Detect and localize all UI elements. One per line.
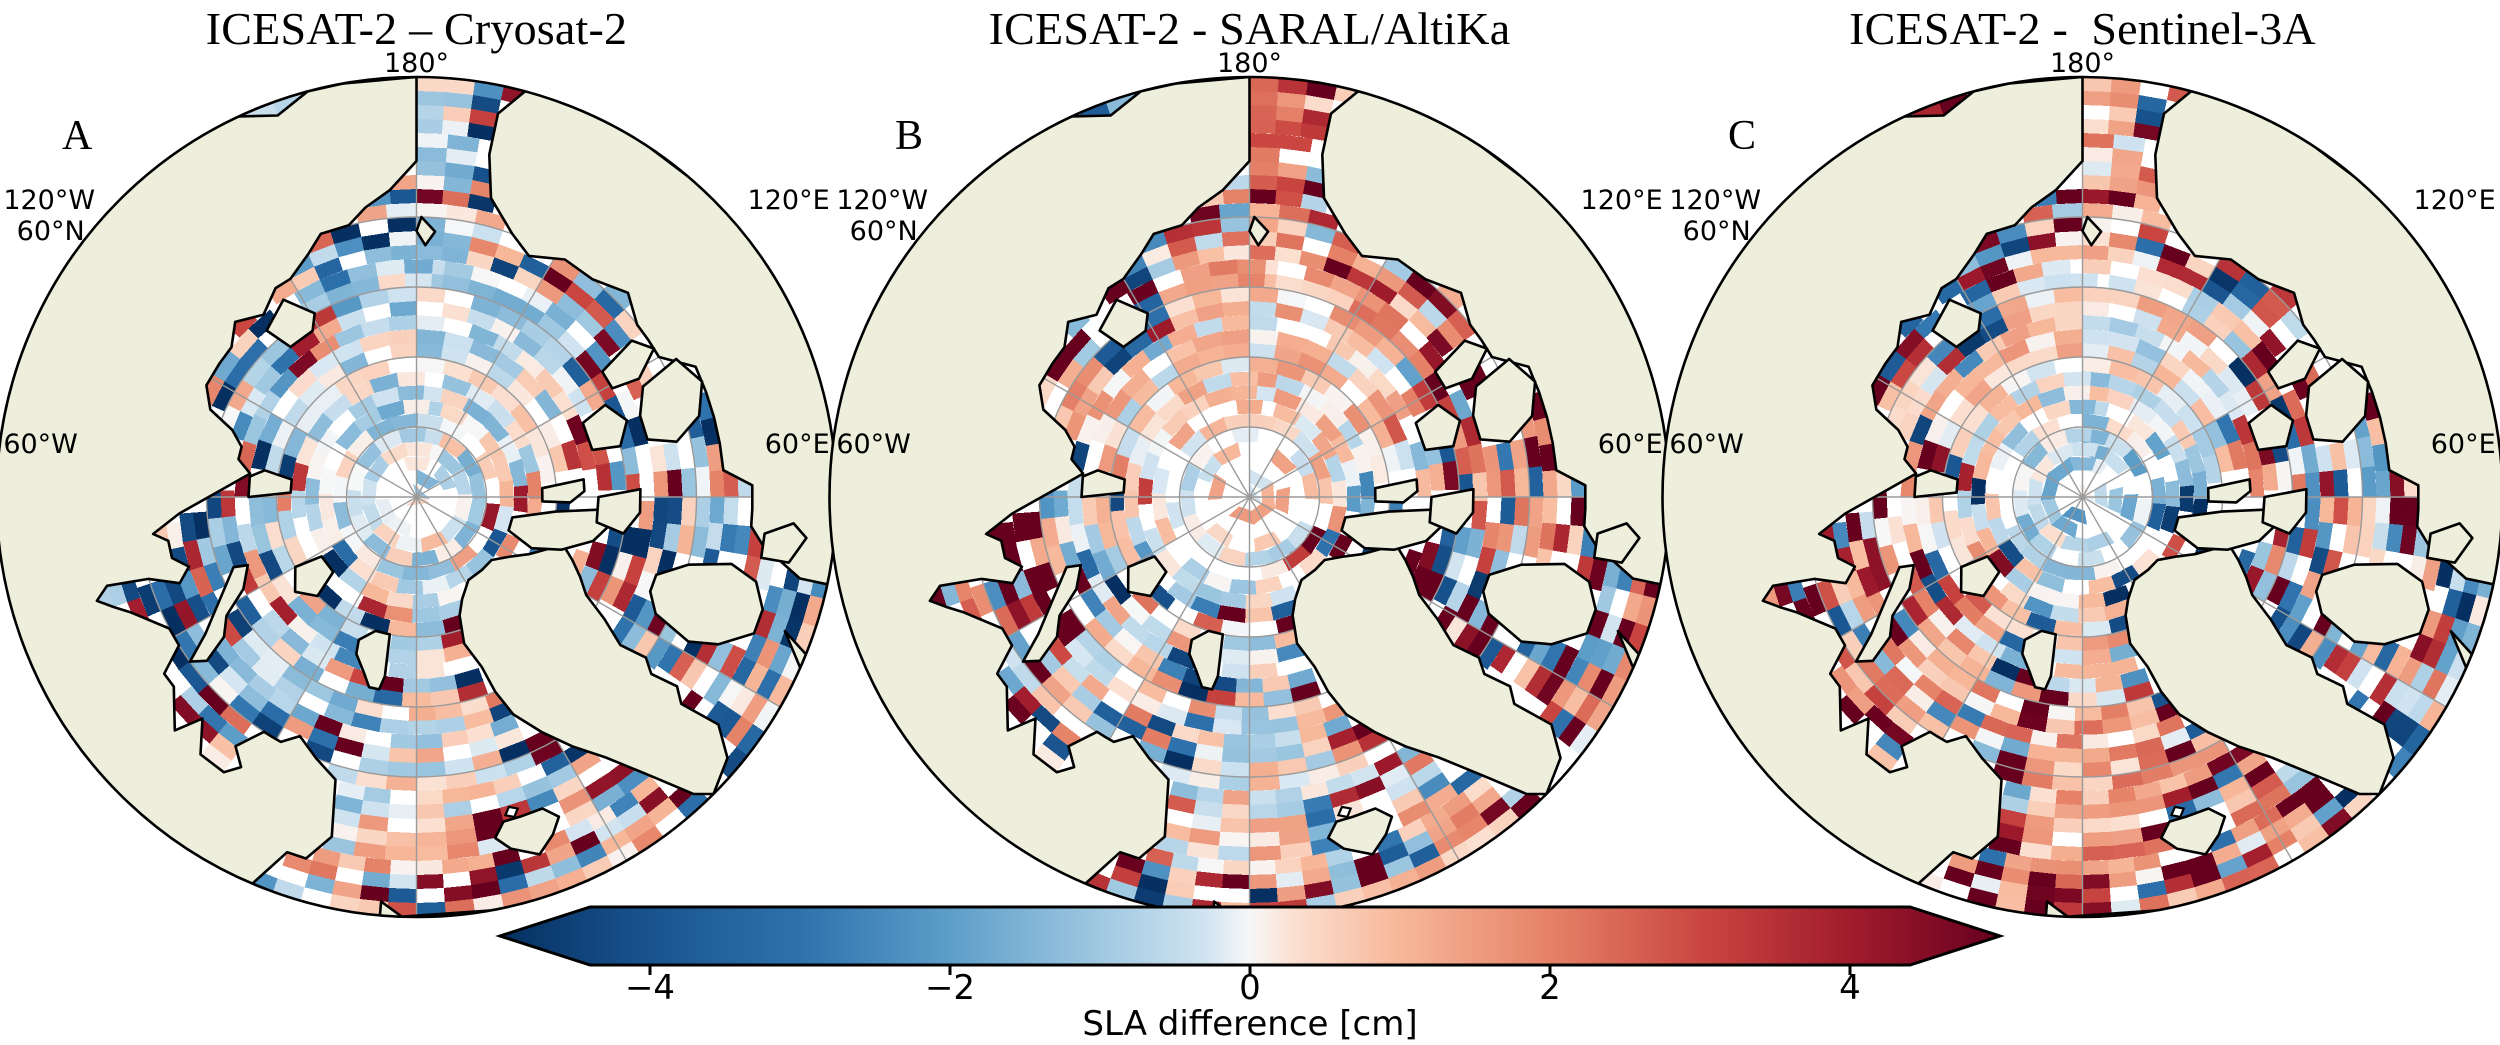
- panel-c-map[interactable]: [1666, 0, 2499, 880]
- graticule-label: 120°W: [1669, 185, 1761, 216]
- colorbar[interactable]: [500, 905, 2000, 967]
- map-svg: [1666, 0, 2499, 880]
- graticule-label: 120°W: [3, 185, 95, 216]
- graticule-label: 120°E: [1581, 185, 1663, 216]
- colorbar-svg: [500, 905, 2000, 967]
- colorbar-tick-label: 0: [1239, 968, 1261, 1008]
- graticule-label: 120°E: [748, 185, 830, 216]
- panel-a: ICESAT-2 – Cryosat-2 A 180°120°W60°N120°…: [0, 0, 833, 880]
- colorbar-tick-label: −4: [625, 968, 675, 1008]
- map-svg: [0, 0, 833, 880]
- graticule-label: 60°E: [765, 429, 830, 460]
- graticule-label: 180°: [1217, 48, 1282, 79]
- colorbar-tick-label: 4: [1839, 968, 1861, 1008]
- map-svg: [833, 0, 1666, 880]
- graticule-label: 60°E: [2431, 429, 2496, 460]
- graticule-label: 180°: [384, 48, 449, 79]
- colorbar-tick-labels: −4−2024: [500, 968, 2000, 1008]
- graticule-label: 60°W: [836, 429, 911, 460]
- graticule-label: 60°N: [17, 216, 85, 247]
- graticule-label: 60°E: [1598, 429, 1663, 460]
- figure-canvas: ICESAT-2 – Cryosat-2 A 180°120°W60°N120°…: [0, 0, 2500, 1045]
- colorbar-tick-label: 2: [1539, 968, 1561, 1008]
- panel-a-map[interactable]: [0, 0, 833, 880]
- graticule-label: 60°N: [850, 216, 918, 247]
- colorbar-axis-label: SLA difference [cm]: [0, 1004, 2500, 1044]
- graticule-label: 60°W: [1669, 429, 1744, 460]
- panel-b: ICESAT-2 - SARAL/AltiKa B 180°120°W60°N1…: [833, 0, 1666, 880]
- panel-c: ICESAT-2 - Sentinel-3A C 180°120°W60°N12…: [1666, 0, 2499, 880]
- graticule-label: 180°: [2050, 48, 2115, 79]
- graticule-label: 120°W: [836, 185, 928, 216]
- graticule-label: 120°E: [2414, 185, 2496, 216]
- colorbar-tick-label: −2: [925, 968, 975, 1008]
- graticule-label: 60°W: [3, 429, 78, 460]
- colorbar-gradient-bar: [500, 907, 2000, 965]
- graticule-label: 60°N: [1683, 216, 1751, 247]
- panel-b-map[interactable]: [833, 0, 1666, 880]
